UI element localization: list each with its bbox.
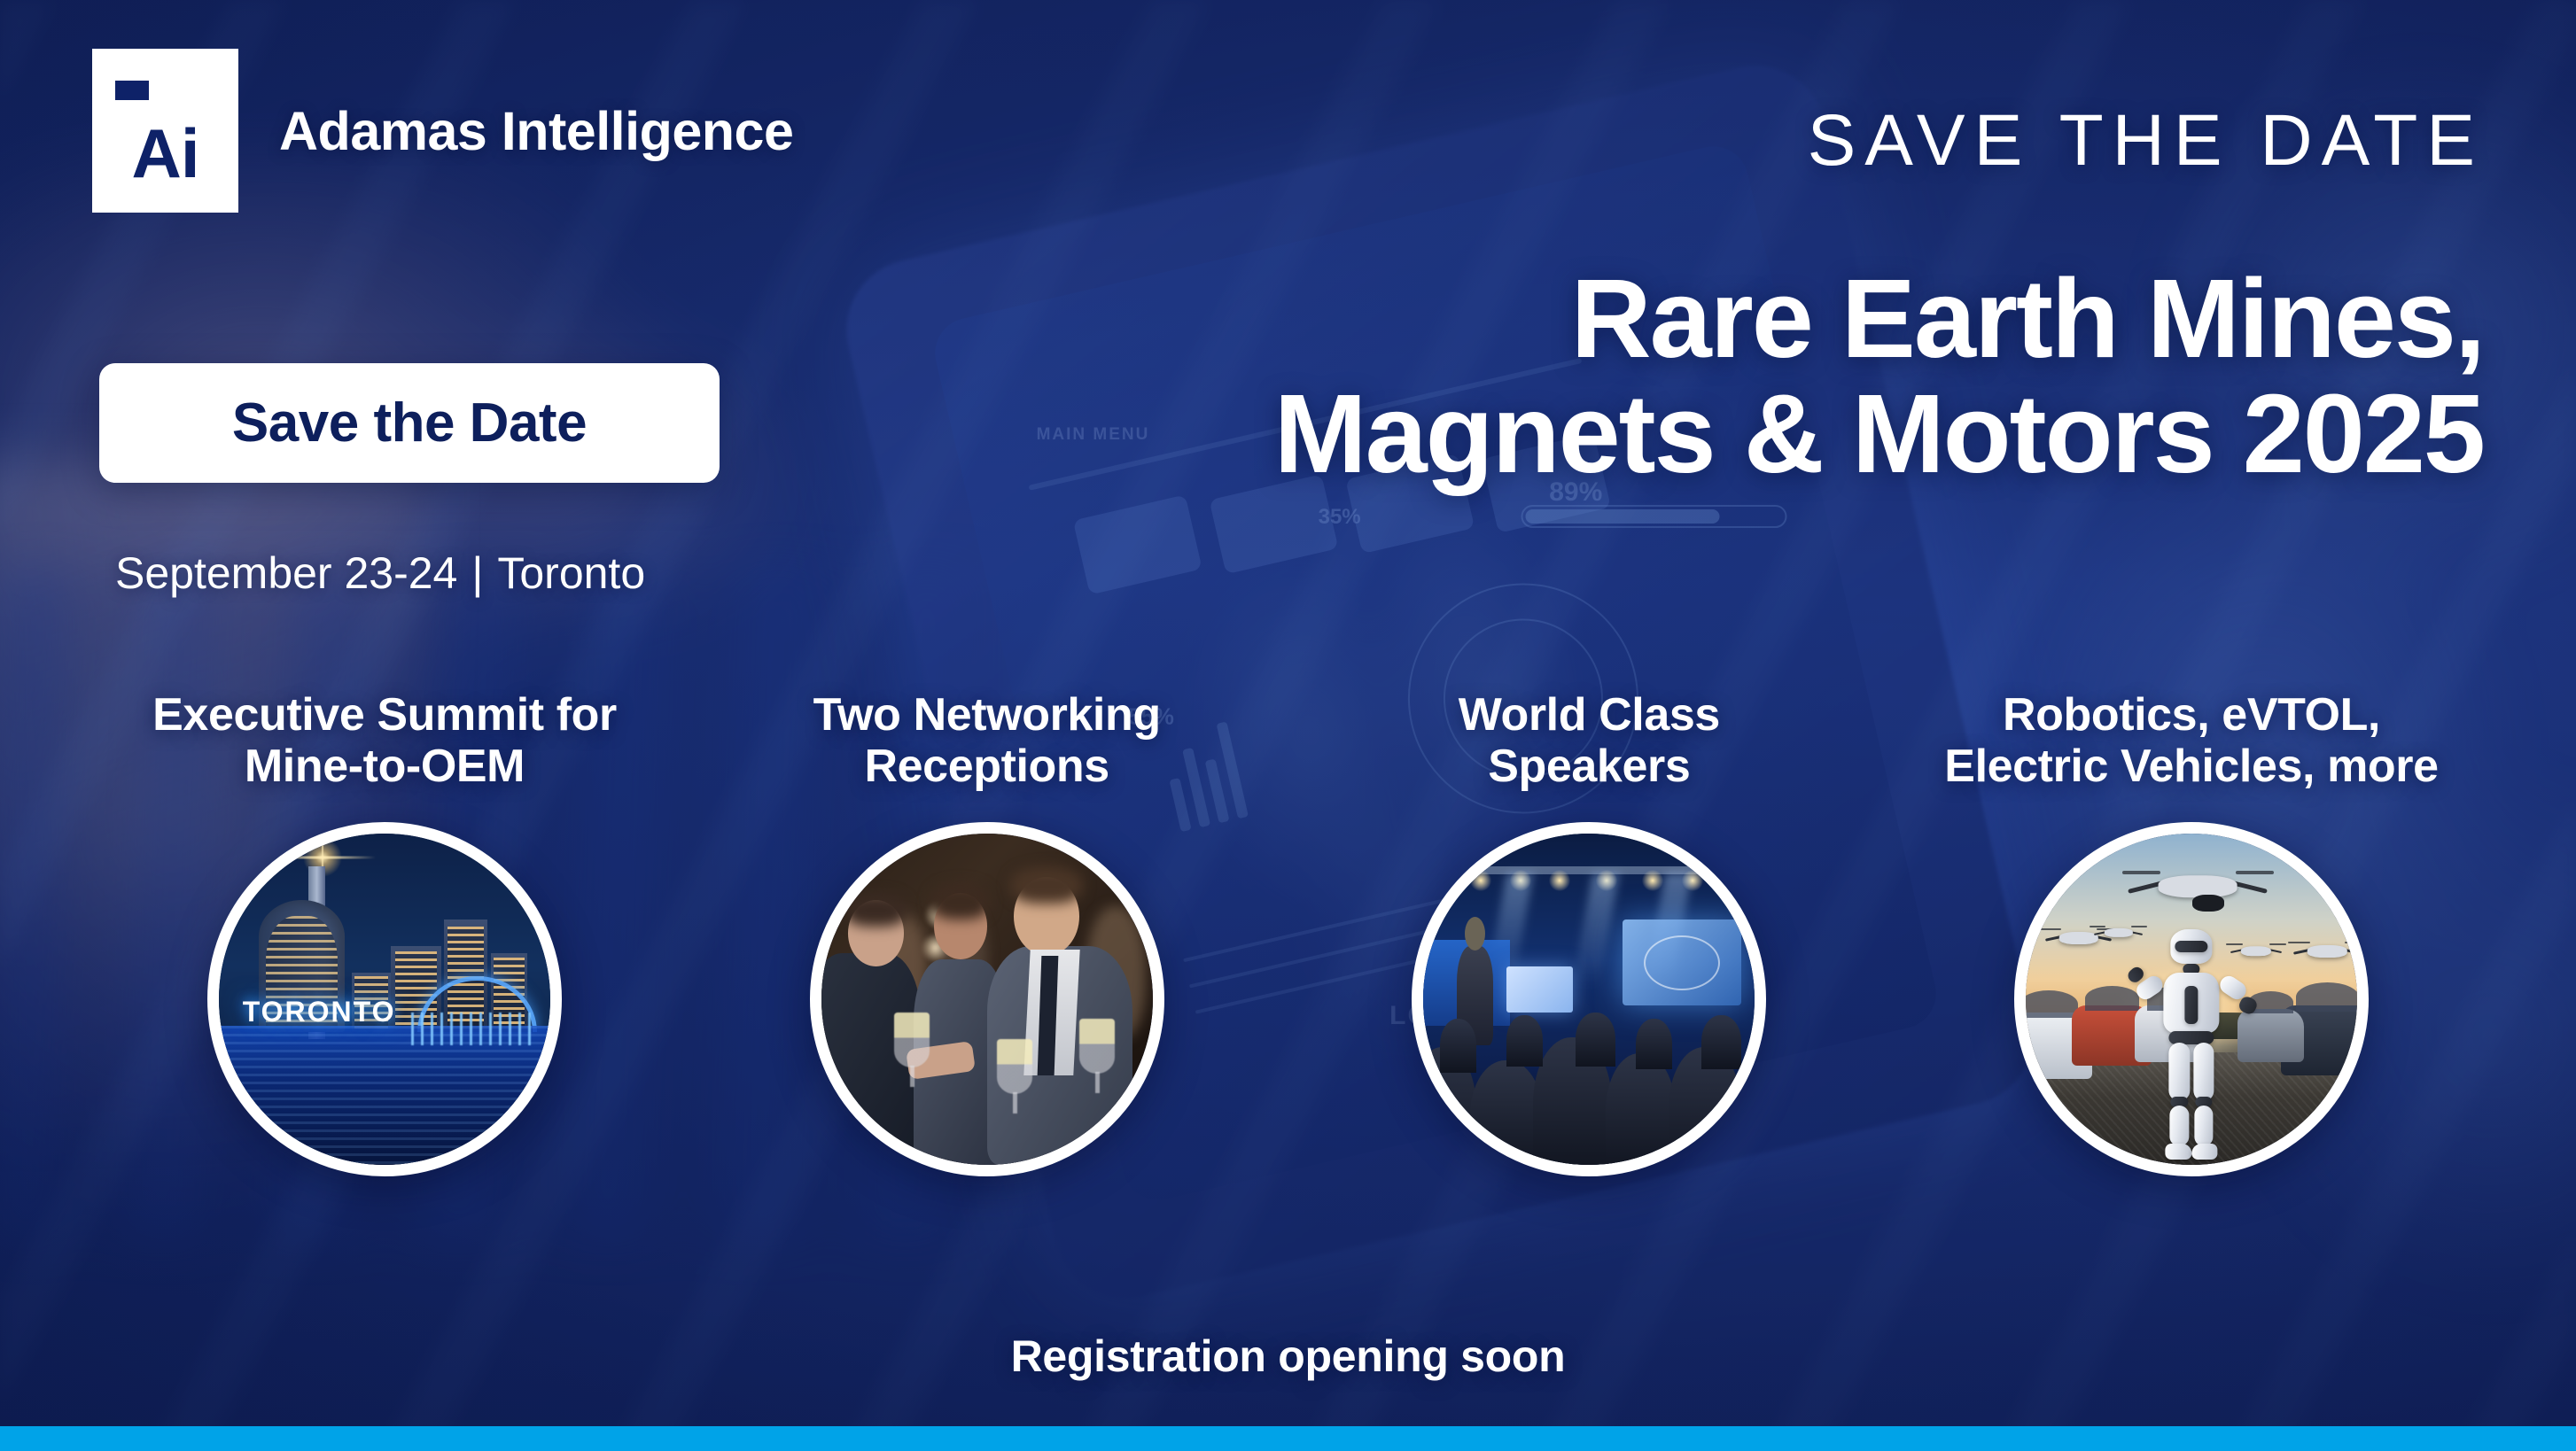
save-the-date-button-label: Save the Date <box>232 392 587 454</box>
adamas-ai-logo-icon: Ai <box>92 49 238 213</box>
event-city: Toronto <box>497 548 645 598</box>
registration-note: Registration opening soon <box>0 1331 2576 1382</box>
bottom-accent-bar <box>0 1426 2576 1451</box>
save-the-date-banner: MAIN MENU 55% 35% 89% LOADING ... Ai <box>0 0 2576 1451</box>
robotics-evtol-ev-photo <box>2014 822 2369 1176</box>
headline-line-2: Magnets & Motors 2025 <box>898 376 2484 492</box>
feature-title: Robotics, eVTOL, Electric Vehicles, more <box>1944 689 2438 799</box>
logo-ai-text: Ai <box>92 119 238 188</box>
brand-name: Adamas Intelligence <box>279 100 793 162</box>
conference-stage-photo <box>1412 822 1766 1176</box>
feature-item-robotics-evtol: Robotics, eVTOL, Electric Vehicles, more <box>1899 689 2484 1176</box>
feature-title-line-2: Speakers <box>1459 741 1720 792</box>
feature-item-networking-receptions: Two Networking Receptions <box>695 689 1280 1176</box>
networking-reception-photo <box>810 822 1164 1176</box>
feature-title-line-1: World Class <box>1459 689 1720 741</box>
feature-title-line-2: Receptions <box>813 741 1161 792</box>
brand-logo-group: Ai Adamas Intelligence <box>92 49 793 213</box>
feature-item-world-class-speakers: World Class Speakers <box>1296 689 1881 1176</box>
toronto-sign-text: TORONTO <box>236 992 403 1032</box>
event-date-location: September 23-24|Toronto <box>115 547 645 599</box>
page-title: Rare Earth Mines, Magnets & Motors 2025 <box>898 261 2484 492</box>
logo-dash-mark <box>115 81 149 100</box>
feature-list: Executive Summit for Mine-to-OEM <box>92 689 2484 1176</box>
feature-title-line-2: Mine-to-OEM <box>152 741 617 792</box>
headline-line-1: Rare Earth Mines, <box>898 261 2484 376</box>
feature-title-line-1: Robotics, eVTOL, <box>1944 689 2438 741</box>
feature-title-line-2: Electric Vehicles, more <box>1944 741 2438 792</box>
feature-title-line-1: Executive Summit for <box>152 689 617 741</box>
feature-title-line-1: Two Networking <box>813 689 1161 741</box>
feature-title: World Class Speakers <box>1459 689 1720 799</box>
toronto-skyline-photo: TORONTO <box>207 822 562 1176</box>
event-meta-separator: | <box>457 548 497 598</box>
feature-item-executive-summit: Executive Summit for Mine-to-OEM <box>92 689 677 1176</box>
feature-title: Two Networking Receptions <box>813 689 1161 799</box>
event-dates: September 23-24 <box>115 548 457 598</box>
feature-title: Executive Summit for Mine-to-OEM <box>152 689 617 799</box>
save-the-date-kicker: SAVE THE DATE <box>1808 105 2484 177</box>
save-the-date-button[interactable]: Save the Date <box>99 363 720 483</box>
